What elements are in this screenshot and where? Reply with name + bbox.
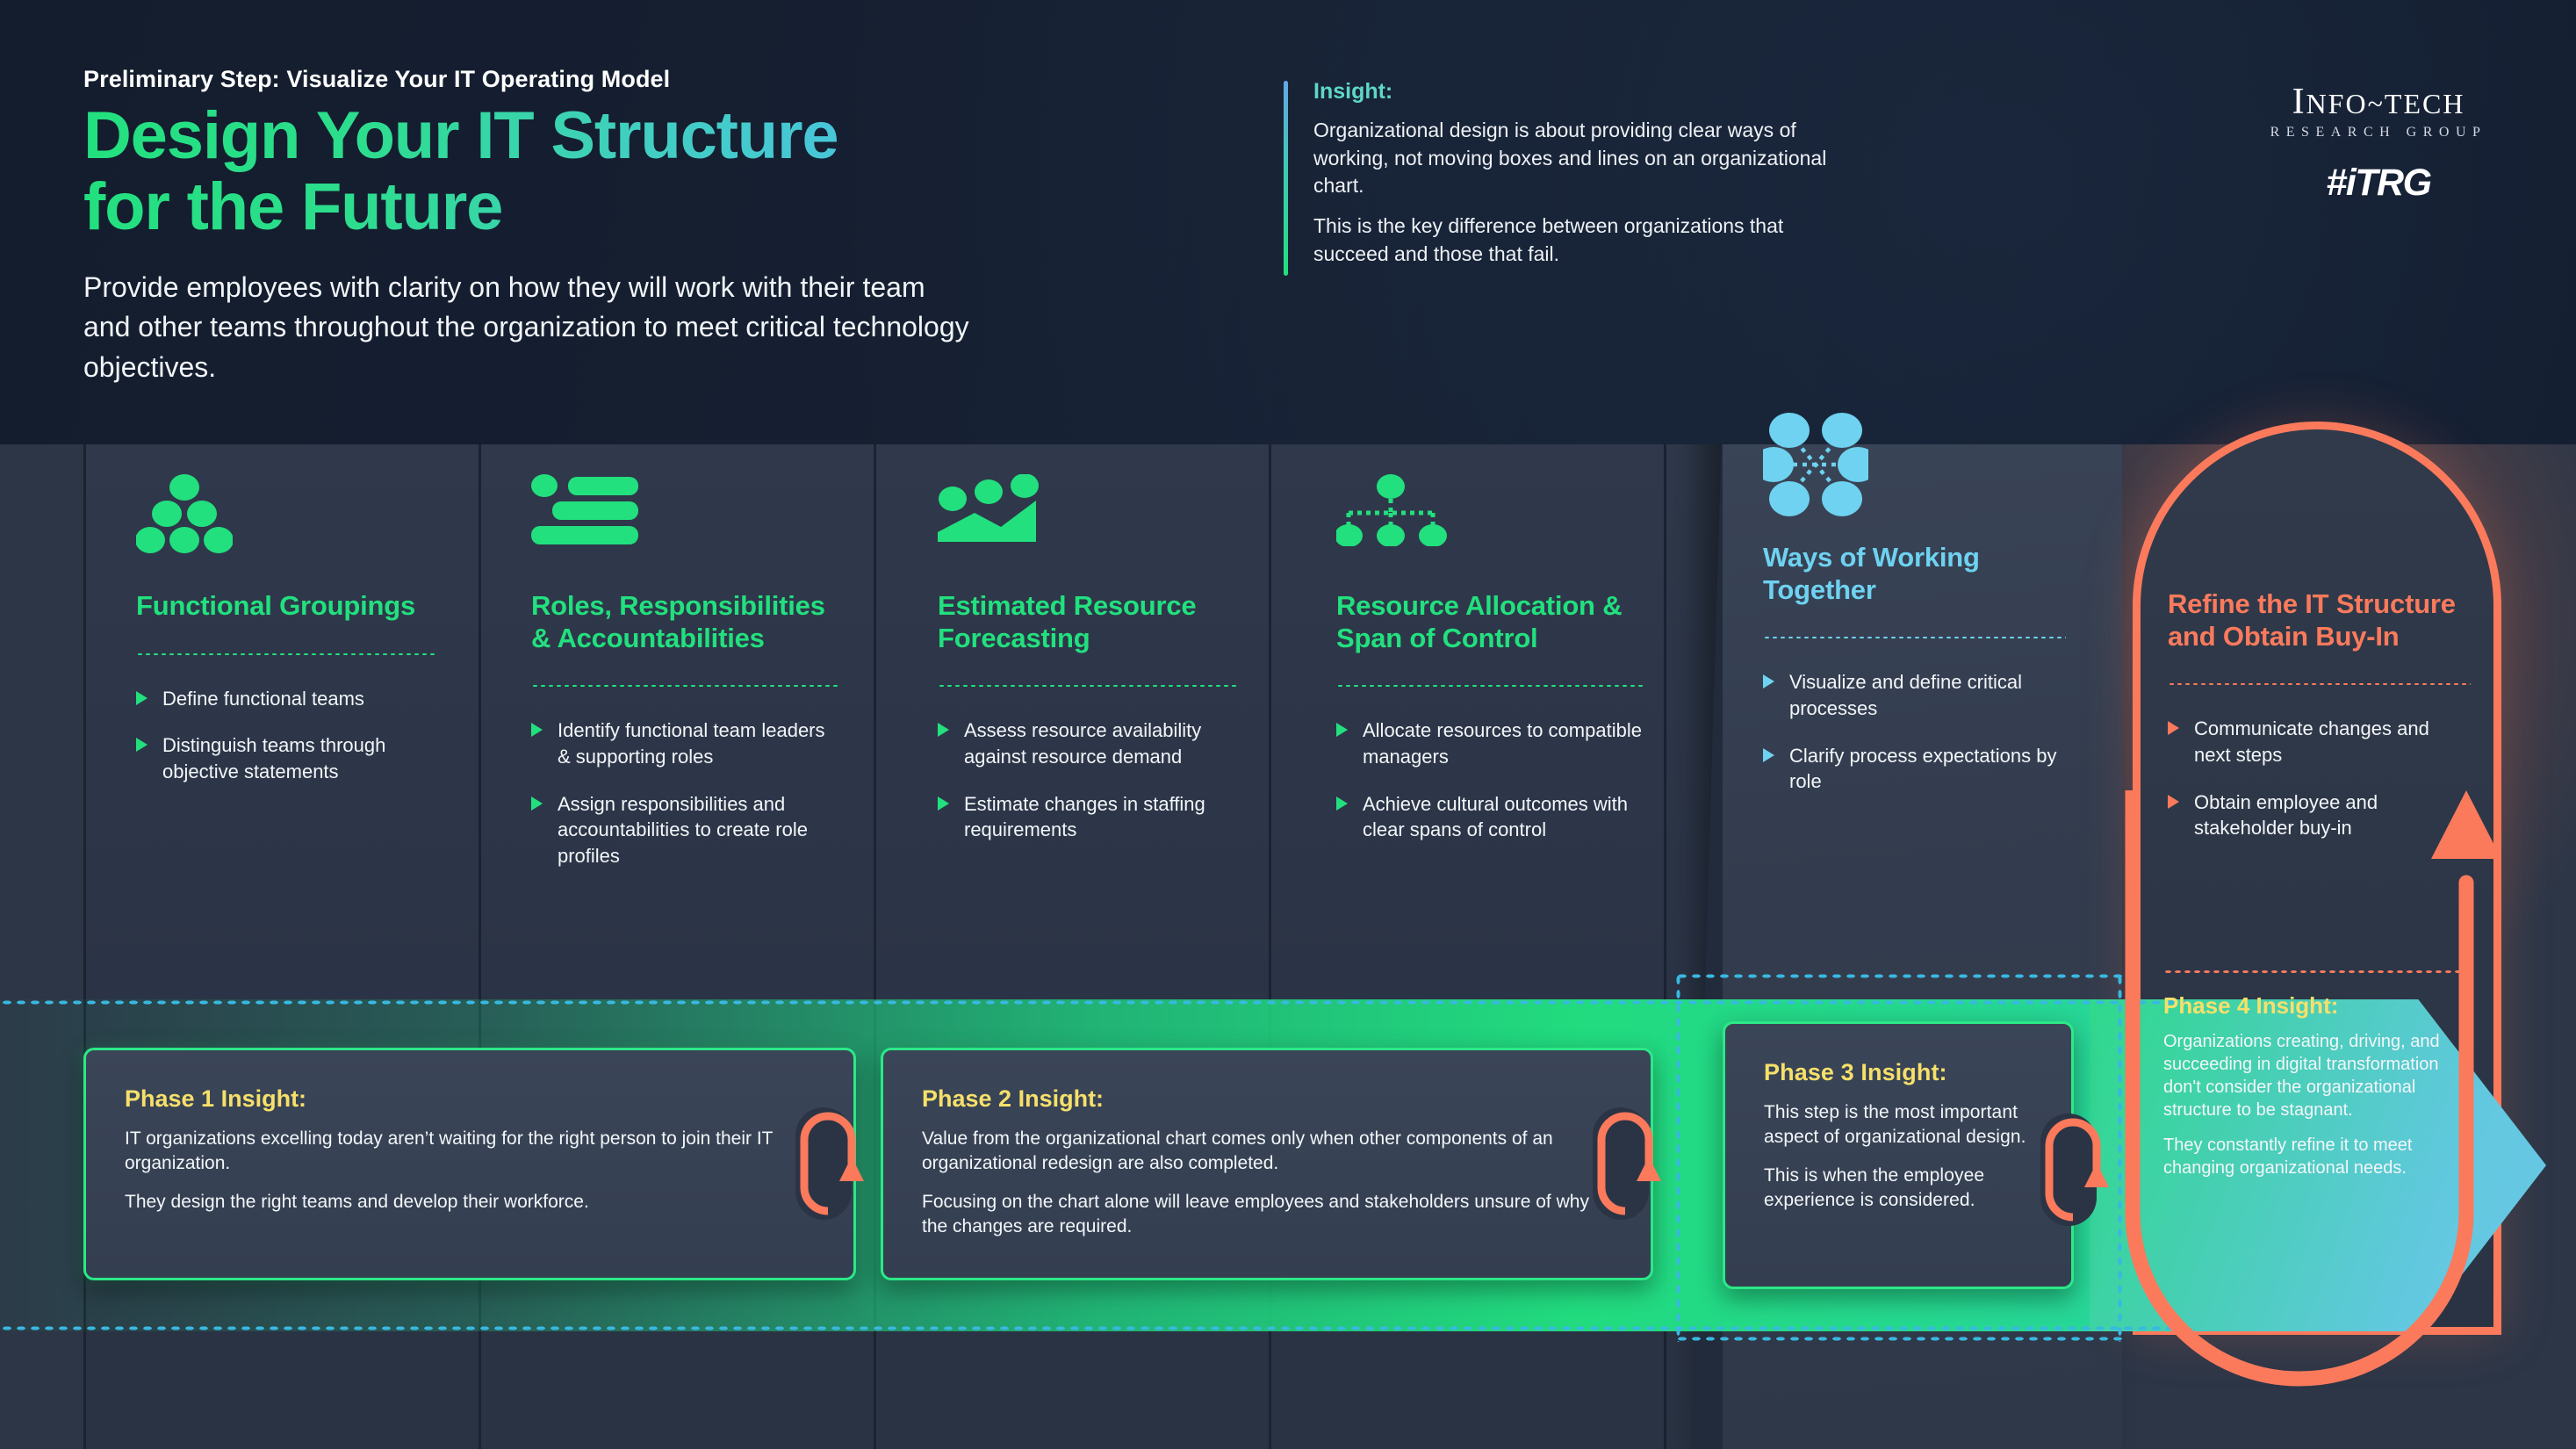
list-item: Estimate changes in staffing requirement… [938,791,1236,843]
list-item: Assess resource availability against res… [938,717,1236,769]
list-item: Identify functional team leaders & suppo… [531,717,838,769]
list-item: Visualize and define critical processes [1763,669,2066,721]
column-ways-of-working: Ways of Working Together Visualize and d… [1763,413,2066,816]
column-bullets: Assess resource availability against res… [938,717,1236,843]
list-item: Clarify process expectations by role [1763,743,2066,795]
org-chart-icon [1336,474,1644,571]
column-divider [136,652,435,656]
column-title: Ways of Working Together [1763,542,2066,606]
card-paragraph-2: Focusing on the chart alone will leave e… [922,1190,1612,1239]
bullet-triangle-icon [1763,748,1774,762]
list-item: Define functional teams [136,686,435,712]
card-label: Phase 2 Insight: [922,1085,1612,1113]
bullet-triangle-icon [531,723,543,737]
list-item: Allocate resources to compatible manager… [1336,717,1644,769]
column-bullets: Identify functional team leaders & suppo… [531,717,838,869]
column-refine-structure: Refine the IT Structure and Obtain Buy-I… [2168,588,2471,862]
bullet-triangle-icon [1763,674,1774,688]
bullet-triangle-icon [2168,721,2179,735]
card-paragraph-1: Organizations creating, driving, and suc… [2163,1030,2471,1121]
bullet-triangle-icon [136,691,148,705]
bullet-triangle-icon [136,738,148,752]
column-roles-responsibilities: Roles, Responsibilities & Accountabiliti… [531,474,838,890]
recycle-loop-icon-1 [790,1102,866,1225]
column-title: Functional Groupings [136,590,435,623]
phase-4-insight: Phase 4 Insight: Organizations creating,… [2163,992,2471,1192]
phase4-dotted-divider [2163,970,2469,974]
people-area-chart-icon [938,474,1236,571]
logo-wordmark: INFO~TECH [2234,83,2523,120]
list-item: Distinguish teams through objective stat… [136,732,435,784]
page-title-line1: Design Your IT Structure [83,98,838,173]
card-paragraph-1: IT organizations excelling today aren’t … [125,1127,815,1176]
column-bullets: Define functional teams Distinguish team… [136,686,435,785]
bullet-triangle-icon [2168,795,2179,809]
insight-paragraph-2: This is the key difference between organ… [1313,213,1846,268]
column-functional-groupings: Functional Groupings Define functional t… [136,474,435,806]
infographic-canvas: Preliminary Step: Visualize Your IT Oper… [0,0,2576,1449]
logo-hashtag: #iTRG [2234,162,2523,205]
insight-label: Insight: [1313,79,1846,105]
card-paragraph-2: This is when the employee experience is … [1764,1164,2033,1213]
list-item: Communicate changes and next steps [2168,716,2471,768]
column-bullets: Allocate resources to compatible manager… [1336,717,1644,843]
list-item: Obtain employee and stakeholder buy-in [2168,789,2471,841]
bulleted-list-icon [531,474,838,571]
column-resource-allocation: Resource Allocation & Span of Control Al… [1336,474,1644,864]
bullet-triangle-icon [938,723,949,737]
card-label: Phase 3 Insight: [1764,1059,2033,1086]
insight-paragraph-1: Organizational design is about providing… [1313,117,1846,200]
logo-tagline: RESEARCH GROUP [2234,125,2523,141]
logo: INFO~TECH RESEARCH GROUP #iTRG [2234,83,2523,205]
header-insight: Insight: Organizational design is about … [1284,79,1846,281]
column-title: Roles, Responsibilities & Accountabiliti… [531,590,838,654]
bullet-triangle-icon [938,797,949,811]
phase-1-insight-card: Phase 1 Insight: IT organizations excell… [83,1048,856,1280]
network-nodes-icon [1763,413,2066,523]
column-bullets: Communicate changes and next steps Obtai… [2168,716,2471,841]
page-title: Design Your IT Structure for the Future [83,101,961,242]
card-paragraph-1: This step is the most important aspect o… [1764,1100,2033,1150]
column-title: Refine the IT Structure and Obtain Buy-I… [2168,588,2471,652]
column-divider [2168,682,2471,686]
card-label: Phase 1 Insight: [125,1085,815,1113]
recycle-loop-icon-3 [2035,1108,2111,1231]
people-pyramid-icon [136,474,435,571]
kicker-text: Preliminary Step: Visualize Your IT Oper… [83,66,670,93]
bullet-triangle-icon [1336,797,1348,811]
list-item: Achieve cultural outcomes with clear spa… [1336,791,1644,843]
card-paragraph-2: They constantly refine it to meet changi… [2163,1134,2471,1179]
page-title-line2: for the Future [83,169,502,244]
column-title: Resource Allocation & Span of Control [1336,590,1644,654]
phase-3-insight-card: Phase 3 Insight: This step is the most i… [1723,1021,2074,1289]
insight-accent-bar [1284,81,1288,276]
column-divider [531,684,838,688]
column-divider [1336,684,1644,688]
phase-2-insight-card: Phase 2 Insight: Value from the organiza… [881,1048,1653,1280]
card-paragraph-1: Value from the organizational chart come… [922,1127,1612,1176]
list-item: Assign responsibilities and accountabili… [531,791,838,869]
column-bullets: Visualize and define critical processes … [1763,669,2066,795]
card-paragraph-2: They design the right teams and develop … [125,1190,815,1215]
recycle-loop-icon-2 [1587,1102,1663,1225]
bullet-triangle-icon [531,797,543,811]
page-subtitle: Provide employees with clarity on how th… [83,268,970,387]
card-label: Phase 4 Insight: [2163,992,2471,1020]
column-resource-forecasting: Estimated Resource Forecasting Assess re… [938,474,1236,864]
column-title: Estimated Resource Forecasting [938,590,1236,654]
bullet-triangle-icon [1336,723,1348,737]
column-divider [938,684,1236,688]
column-divider [1763,636,2066,639]
